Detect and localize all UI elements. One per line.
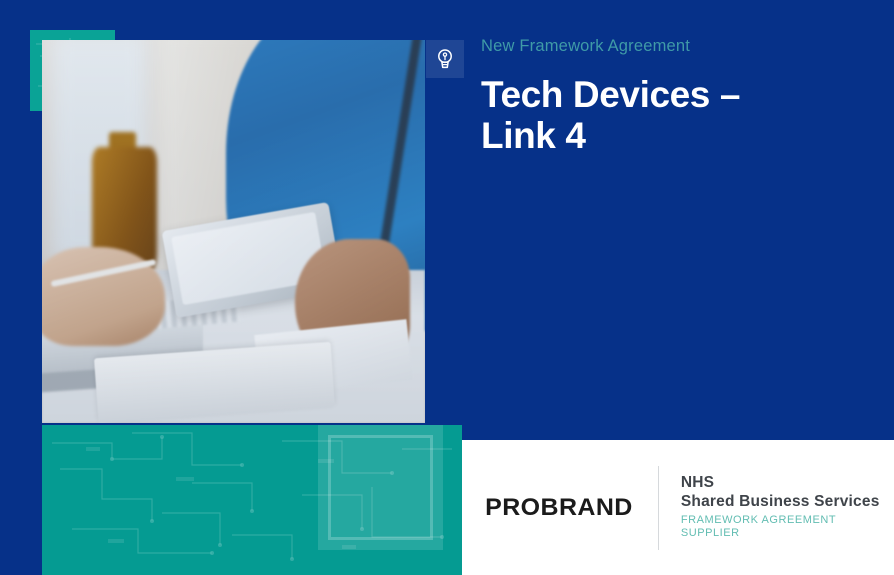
eyebrow-text: New Framework Agreement [481,37,690,57]
logo-bar: PROBRAND NHS Shared Business Services FR… [462,440,894,575]
photo-color-tint [42,40,425,423]
nhs-logo-line3: FRAMEWORK AGREEMENT SUPPLIER [681,514,894,541]
hero-photo [42,40,425,423]
nhs-sbs-logo: NHS Shared Business Services FRAMEWORK A… [681,474,894,541]
lightbulb-icon [433,47,457,71]
probrand-logo: PROBRAND [485,494,633,522]
logo-divider [658,466,659,550]
square-outline-frame [328,435,433,540]
lightbulb-badge [426,40,464,78]
nhs-logo-line2: Shared Business Services [681,493,894,512]
visual-column [0,0,470,575]
promotional-banner: New Framework Agreement Tech Devices – L… [0,0,894,575]
nhs-logo-line1: NHS [681,474,894,493]
page-title: Tech Devices – Link 4 [481,74,811,156]
